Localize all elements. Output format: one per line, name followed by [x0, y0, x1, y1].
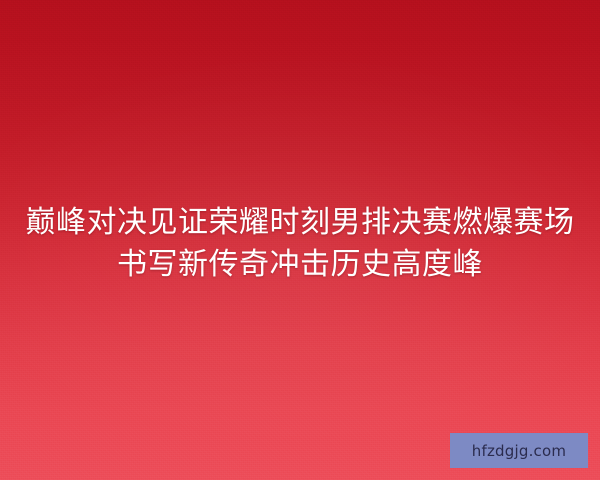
watermark-url-label: hfzdgjg.com [472, 442, 566, 460]
headline-text: 巅峰对决见证荣耀时刻男排决赛燃爆赛场 书写新传奇冲击历史高度峰 [0, 202, 600, 286]
watermark-badge: hfzdgjg.com [450, 433, 588, 468]
promo-banner: 巅峰对决见证荣耀时刻男排决赛燃爆赛场 书写新传奇冲击历史高度峰 hfzdgjg.… [0, 0, 600, 480]
